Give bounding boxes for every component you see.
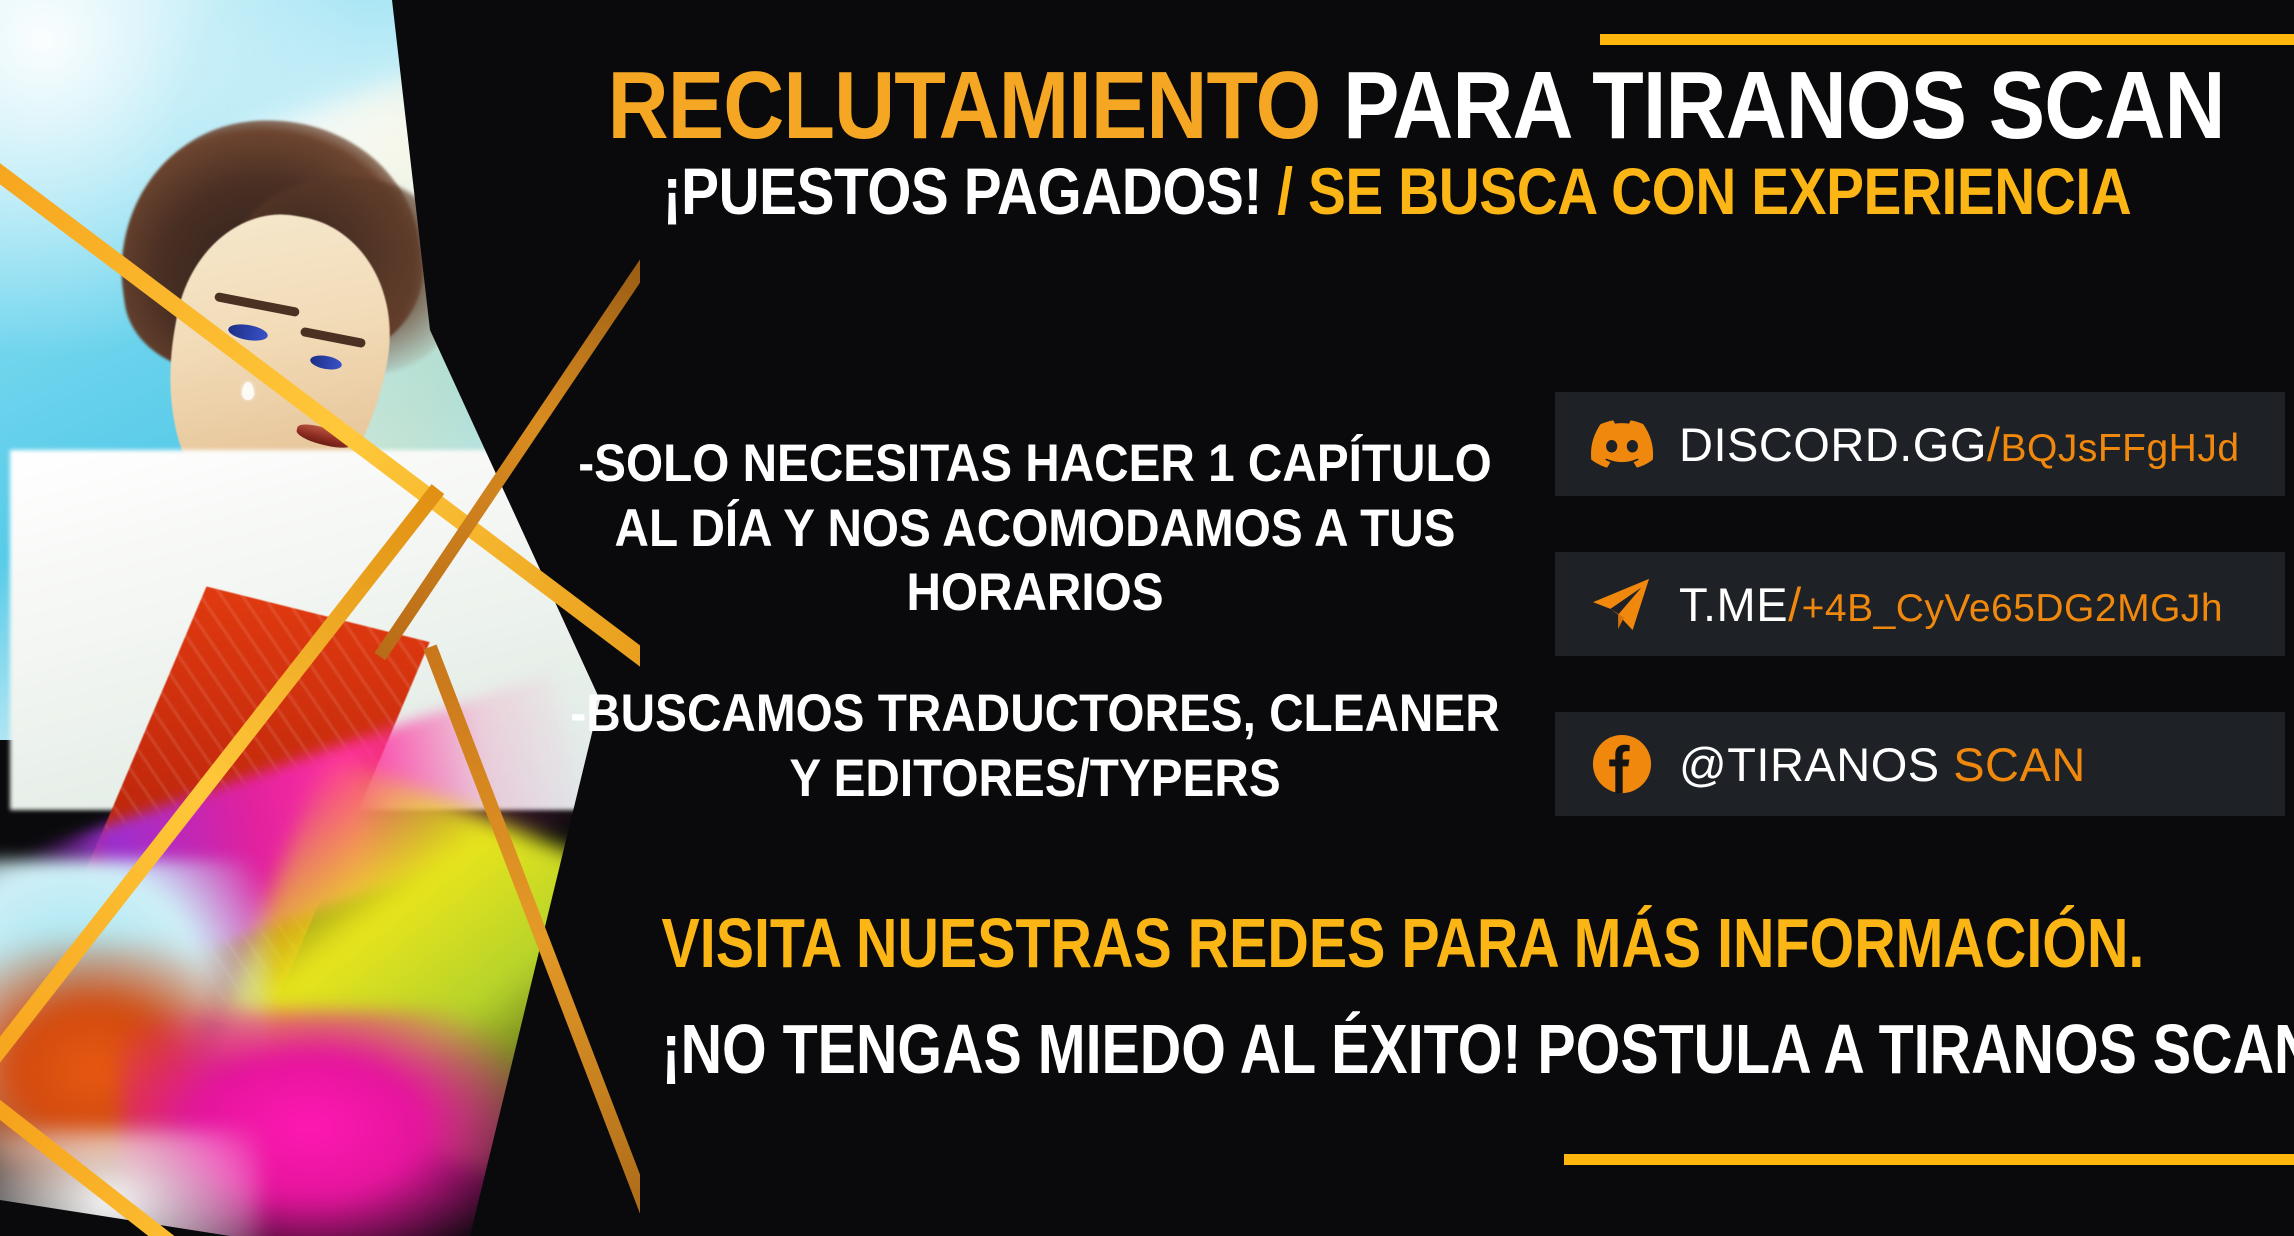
contact-cards: DISCORD.GG/BQJsFFgHJd T.ME/+4B_CyVe65DG2… <box>1555 392 2285 816</box>
requirement-item-schedule: -SOLO NECESITAS HACER 1 CAPÍTULO AL DÍA … <box>554 432 1517 626</box>
facebook-icon <box>1591 733 1653 795</box>
headline-white-text: PARA TIRANOS SCAN <box>1343 52 2224 159</box>
facebook-separator <box>1940 738 1954 791</box>
telegram-separator: / <box>1788 578 1802 631</box>
page-subtitle: ¡PUESTOS PAGADOS! / SE BUSCA CON EXPERIE… <box>626 158 2169 224</box>
discord-link-text: DISCORD.GG/BQJsFFgHJd <box>1679 417 2240 472</box>
telegram-link-text: T.ME/+4B_CyVe65DG2MGJh <box>1679 577 2223 632</box>
telegram-invite-code: +4B_CyVe65DG2MGJh <box>1802 587 2223 630</box>
telegram-icon <box>1591 573 1653 635</box>
recruitment-banner: RECLUTAMIENTO PARA TIRANOS SCAN ¡PUESTOS… <box>0 0 2294 1236</box>
cta-line-primary: VISITA NUESTRAS REDES PARA MÁS INFORMACI… <box>661 908 2132 978</box>
telegram-domain: T.ME <box>1679 578 1788 631</box>
contact-card-discord[interactable]: DISCORD.GG/BQJsFFgHJd <box>1555 392 2285 496</box>
requirement-item-roles: -BUSCAMOS TRADUCTORES, CLEANER Y EDITORE… <box>554 682 1517 811</box>
facebook-handle-prefix: @TIRANOS <box>1679 738 1940 791</box>
discord-invite-code: BQJsFFgHJd <box>2000 427 2239 470</box>
discord-domain: DISCORD.GG <box>1679 418 1987 471</box>
headline-gold-text: RECLUTAMIENTO <box>608 52 1321 159</box>
top-gold-rule <box>1600 34 2294 45</box>
discord-icon <box>1591 413 1653 475</box>
contact-card-telegram[interactable]: T.ME/+4B_CyVe65DG2MGJh <box>1555 552 2285 656</box>
artwork-sweat-drop <box>242 382 254 400</box>
bottom-gold-rule <box>1564 1154 2294 1165</box>
call-to-action: VISITA NUESTRAS REDES PARA MÁS INFORMACI… <box>661 908 2132 1084</box>
contact-card-facebook[interactable]: @TIRANOS SCAN <box>1555 712 2285 816</box>
subheadline-gold-text: / SE BUSCA CON EXPERIENCIA <box>1277 154 2131 228</box>
page-title: RECLUTAMIENTO PARA TIRANOS SCAN <box>608 58 2187 154</box>
facebook-handle-suffix: SCAN <box>1953 738 2086 791</box>
discord-separator: / <box>1987 418 2001 471</box>
cta-line-secondary: ¡NO TENGAS MIEDO AL ÉXITO! POSTULA A TIR… <box>661 1014 2132 1084</box>
content-panel: RECLUTAMIENTO PARA TIRANOS SCAN ¡PUESTOS… <box>500 0 2294 1236</box>
requirements-list: -SOLO NECESITAS HACER 1 CAPÍTULO AL DÍA … <box>554 432 1517 811</box>
subheadline-white-text: ¡PUESTOS PAGADOS! <box>663 154 1262 228</box>
facebook-handle-text: @TIRANOS SCAN <box>1679 737 2086 792</box>
